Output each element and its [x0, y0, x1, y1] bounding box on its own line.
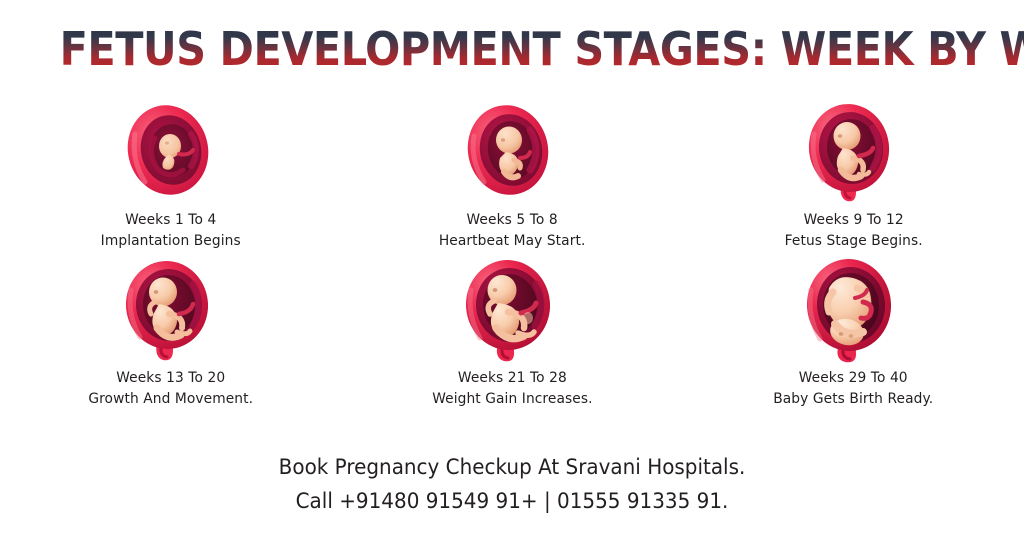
stage-card-4: Weeks 13 To 20 Growth And Movement. — [0, 258, 341, 420]
fetus-illustration-weeks-9-to-12 — [793, 100, 913, 208]
fetus-illustration-weeks-1-to-4 — [111, 100, 231, 208]
stage-description-4: Growth And Movement. — [88, 389, 253, 410]
fetus-illustration-weeks-29-to-40 — [793, 258, 913, 366]
stage-card-1: Weeks 1 To 4 Implantation Begins — [0, 100, 341, 258]
stage-weeks-label-5: Weeks 21 To 28 — [458, 370, 567, 386]
stage-description-6: Baby Gets Birth Ready. — [773, 389, 933, 410]
stages-row-top: Weeks 1 To 4 Implantation Begins — [0, 100, 1024, 258]
stage-weeks-label-6: Weeks 29 To 40 — [799, 370, 908, 386]
stage-caption-5: Weeks 21 To 28 Weight Gain Increases. — [432, 368, 592, 410]
stage-card-2: Weeks 5 To 8 Heartbeat May Start. — [341, 100, 682, 258]
stage-weeks-label-3: Weeks 9 To 12 — [803, 212, 903, 228]
stage-caption-3: Weeks 9 To 12 Fetus Stage Begins. — [784, 210, 922, 252]
stage-caption-1: Weeks 1 To 4 Implantation Begins — [101, 210, 241, 252]
stage-description-5: Weight Gain Increases. — [432, 389, 592, 410]
stage-caption-4: Weeks 13 To 20 Growth And Movement. — [88, 368, 253, 410]
stage-description-2: Heartbeat May Start. — [439, 231, 586, 252]
stage-weeks-label-1: Weeks 1 To 4 — [125, 212, 216, 228]
stage-description-1: Implantation Begins — [101, 231, 241, 252]
fetus-illustration-weeks-13-to-20 — [111, 258, 231, 366]
footer-cta: Book Pregnancy Checkup At Sravani Hospit… — [0, 450, 1024, 518]
stage-card-6: Weeks 29 To 40 Baby Gets Birth Ready. — [683, 258, 1024, 420]
stage-card-5: Weeks 21 To 28 Weight Gain Increases. — [341, 258, 682, 420]
page-title: FETUS DEVELOPMENT STAGES: WEEK BY WEEK — [60, 26, 1024, 72]
footer-line-2: Call +91480 91549 91+ | 01555 91335 91. — [26, 484, 999, 518]
page-header: FETUS DEVELOPMENT STAGES: WEEK BY WEEK — [0, 26, 1024, 72]
stage-weeks-label-4: Weeks 13 To 20 — [116, 370, 225, 386]
stage-caption-6: Weeks 29 To 40 Baby Gets Birth Ready. — [773, 368, 933, 410]
stage-weeks-label-2: Weeks 5 To 8 — [466, 212, 557, 228]
stages-row-bottom: Weeks 13 To 20 Growth And Movement. — [0, 258, 1024, 420]
stage-caption-2: Weeks 5 To 8 Heartbeat May Start. — [439, 210, 586, 252]
fetus-illustration-weeks-5-to-8 — [452, 100, 572, 208]
stages-grid: Weeks 1 To 4 Implantation Begins — [0, 100, 1024, 420]
fetus-illustration-weeks-21-to-28 — [452, 258, 572, 366]
stage-card-3: Weeks 9 To 12 Fetus Stage Begins. — [683, 100, 1024, 258]
stage-description-3: Fetus Stage Begins. — [784, 231, 922, 252]
footer-line-1: Book Pregnancy Checkup At Sravani Hospit… — [26, 450, 999, 484]
